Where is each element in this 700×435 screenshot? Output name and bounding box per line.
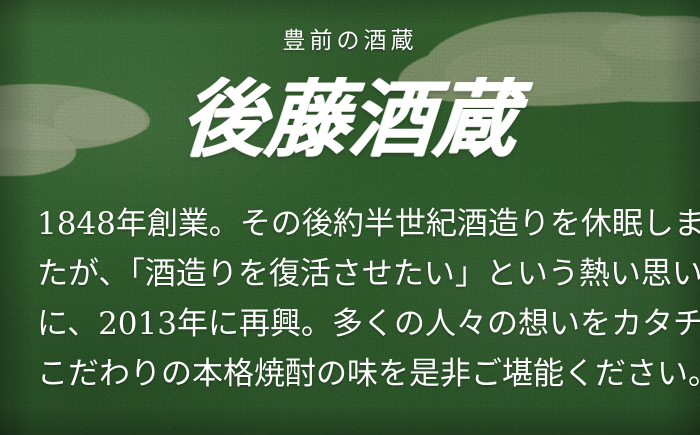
description-line: たが、「酒造りを復活させたい」という熱い思いを胸 xyxy=(37,249,662,299)
description-line-text: こだわりの本格焼酎の味を是非ご堪能ください。 xyxy=(37,349,662,399)
banner-eyebrow-text: 豊前の酒蔵 xyxy=(0,30,700,53)
brewery-description: 1848年創業。その後約半世紀酒造りを休眠しまし たが、「酒造りを復活させたい」… xyxy=(37,199,662,399)
description-line-text: に、2013年に再興。多くの人々の想いをカタチに。 xyxy=(37,299,662,349)
description-line: 1848年創業。その後約半世紀酒造りを休眠しまし xyxy=(37,199,662,249)
brewery-name-title: 後藤酒蔵 xyxy=(0,78,700,161)
description-line-text: 1848年創業。その後約半世紀酒造りを休眠しまし xyxy=(37,199,662,249)
description-line: に、2013年に再興。多くの人々の想いをカタチに。 xyxy=(37,299,662,349)
description-line-text: たが、「酒造りを復活させたい」という熱い思いを胸 xyxy=(37,249,662,299)
sake-brewery-banner: 豊前の酒蔵 後藤酒蔵 1848年創業。その後約半世紀酒造りを休眠しまし たが、「… xyxy=(0,0,700,435)
description-line: こだわりの本格焼酎の味を是非ご堪能ください。 xyxy=(37,349,662,399)
banner-content: 豊前の酒蔵 後藤酒蔵 1848年創業。その後約半世紀酒造りを休眠しまし たが、「… xyxy=(0,0,700,435)
